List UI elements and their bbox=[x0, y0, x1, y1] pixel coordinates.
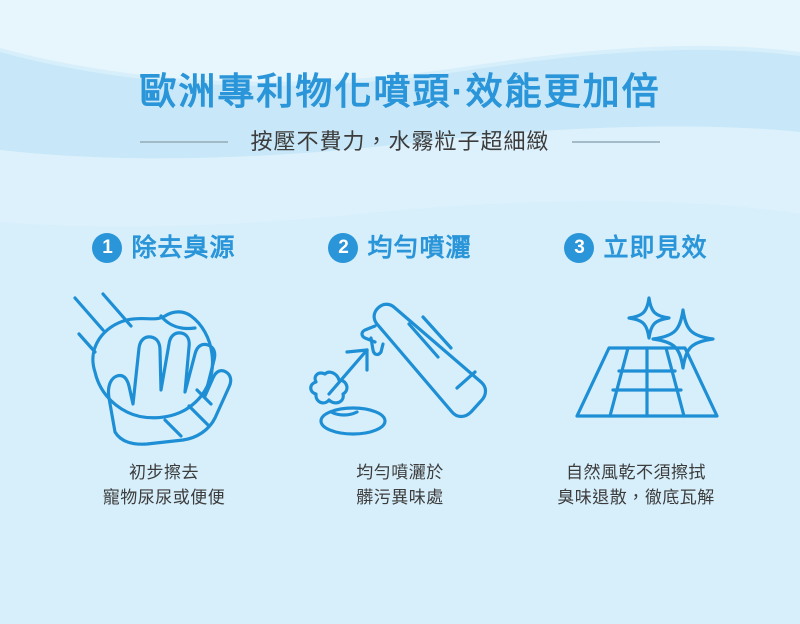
step-2-caption-line2: 髒污異味處 bbox=[356, 485, 444, 510]
step-1-header: 1 除去臭源 bbox=[92, 228, 235, 268]
step-1-caption: 初步擦去 寵物尿尿或便便 bbox=[103, 460, 226, 510]
subtitle: 按壓不費力，水霧粒子超細緻 bbox=[250, 128, 549, 156]
step-2: 2 均勻噴灑 bbox=[282, 228, 518, 510]
step-3-title: 立即見效 bbox=[603, 233, 707, 263]
step-1: 1 除去臭源 bbox=[46, 228, 282, 510]
spray-bottle-icon bbox=[305, 286, 495, 446]
step-3-caption-line1: 自然風乾不須擦拭 bbox=[557, 460, 715, 485]
step-1-number-badge: 1 bbox=[92, 233, 122, 263]
step-2-title: 均勻噴灑 bbox=[367, 233, 471, 263]
step-2-number-badge: 2 bbox=[328, 233, 358, 263]
step-1-caption-line2: 寵物尿尿或便便 bbox=[103, 485, 226, 510]
hand-wiping-cloth-icon bbox=[69, 286, 259, 446]
step-1-caption-line1: 初步擦去 bbox=[103, 460, 226, 485]
step-3: 3 立即見效 bbox=[518, 228, 754, 510]
page-title: 歐洲專利物化噴頭·效能更加倍 bbox=[0, 0, 800, 115]
step-2-caption-line1: 均勻噴灑於 bbox=[356, 460, 444, 485]
header: 歐洲專利物化噴頭·效能更加倍 按壓不費力，水霧粒子超細緻 bbox=[0, 0, 800, 156]
sparkling-tiled-floor-icon bbox=[541, 286, 731, 446]
step-2-header: 2 均勻噴灑 bbox=[328, 228, 471, 268]
step-1-title: 除去臭源 bbox=[131, 233, 235, 263]
right-divider-rule bbox=[572, 141, 660, 143]
step-3-header: 3 立即見效 bbox=[564, 228, 707, 268]
left-divider-rule bbox=[140, 141, 228, 143]
step-3-caption: 自然風乾不須擦拭 臭味退散，徹底瓦解 bbox=[557, 460, 715, 510]
subtitle-row: 按壓不費力，水霧粒子超細緻 bbox=[0, 128, 800, 156]
step-3-caption-line2: 臭味退散，徹底瓦解 bbox=[557, 485, 715, 510]
step-2-caption: 均勻噴灑於 髒污異味處 bbox=[356, 460, 444, 510]
steps-row: 1 除去臭源 bbox=[0, 228, 800, 510]
promo-banner: 歐洲專利物化噴頭·效能更加倍 按壓不費力，水霧粒子超細緻 1 除去臭源 bbox=[0, 0, 800, 624]
step-3-number-badge: 3 bbox=[564, 233, 594, 263]
